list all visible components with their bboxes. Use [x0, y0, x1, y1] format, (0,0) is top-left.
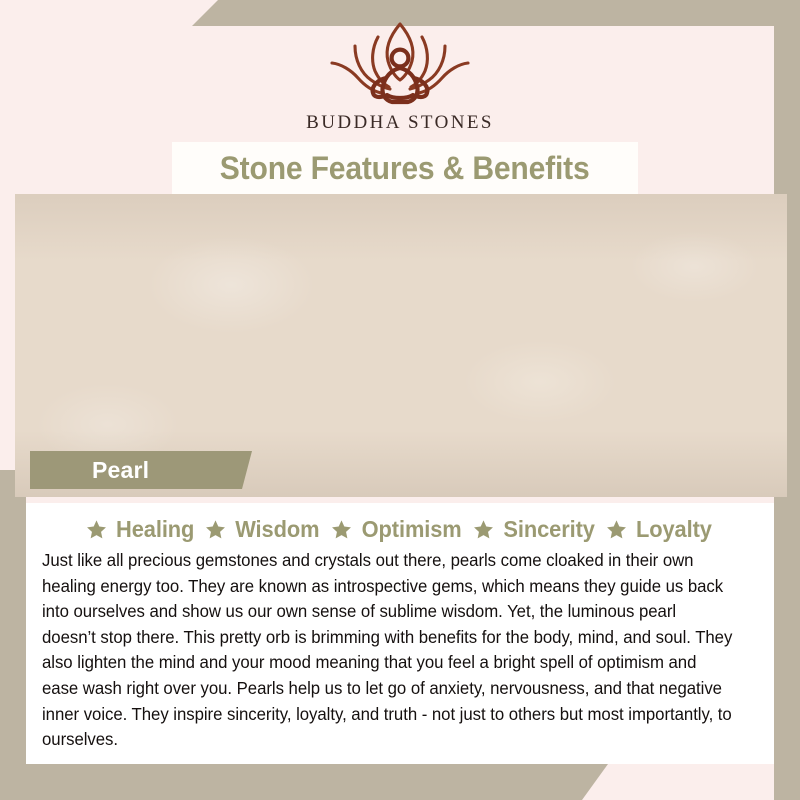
star-icon	[606, 519, 627, 540]
benefit-optimism: Optimism	[331, 516, 464, 543]
benefit-healing: Healing	[86, 516, 196, 543]
stone-name-label: Pearl	[30, 457, 149, 484]
benefits-row: Healing Wisdom Optimism Sincerity	[42, 511, 758, 547]
page-title: Stone Features & Benefits	[220, 150, 590, 187]
description-card: Healing Wisdom Optimism Sincerity	[26, 503, 774, 764]
star-icon	[205, 519, 226, 540]
star-icon	[86, 519, 107, 540]
frame-bottom-band	[0, 764, 800, 800]
star-icon	[331, 519, 352, 540]
brand-wordmark: BUDDHA STONES	[0, 112, 800, 134]
benefit-label: Loyalty	[636, 516, 712, 543]
benefit-label: Healing	[116, 516, 194, 543]
star-icon	[473, 519, 494, 540]
benefit-wisdom: Wisdom	[205, 516, 322, 543]
benefit-label: Optimism	[361, 516, 461, 543]
benefit-loyalty: Loyalty	[606, 516, 714, 543]
title-banner: Stone Features & Benefits	[172, 142, 638, 194]
lotus-meditation-figure-icon	[315, 18, 485, 110]
brand-logo: BUDDHA STONES	[0, 18, 800, 134]
benefit-label: Wisdom	[235, 516, 319, 543]
frame-left-band	[0, 470, 26, 800]
stone-benefits-infographic: BUDDHA STONES Stone Features & Benefits …	[0, 0, 800, 800]
benefit-sincerity: Sincerity	[473, 516, 597, 543]
benefit-label: Sincerity	[504, 516, 595, 543]
stone-name-tag: Pearl	[30, 451, 252, 489]
description-text: Just like all precious gemstones and cry…	[42, 548, 733, 753]
